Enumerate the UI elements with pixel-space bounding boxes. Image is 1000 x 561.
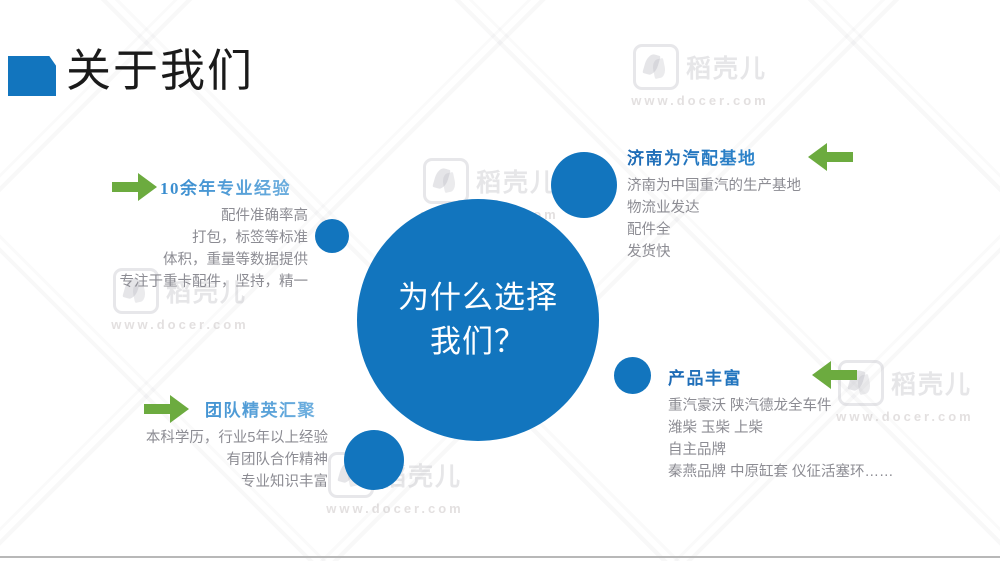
- bottom-divider: [0, 556, 1000, 558]
- feature-line: 体积，重量等数据提供: [0, 249, 308, 271]
- decorative-circle-bottom-left: [344, 430, 404, 490]
- center-circle-label: 为什么选择我们？: [398, 276, 558, 364]
- decorative-circle-small-left: [315, 219, 349, 253]
- feature-line: 专注于重卡配件，坚持，精一: [0, 271, 308, 293]
- feature-heading-team: 团队精英汇聚: [0, 396, 340, 421]
- feature-line: 专业知识丰富: [0, 471, 328, 493]
- title-accent-shape: [8, 56, 56, 96]
- feature-line: 打包，标签等标准: [0, 227, 308, 249]
- feature-heading-base: 济南为汽配基地: [627, 144, 927, 169]
- docer-leaf-logo-icon: [423, 158, 469, 204]
- feature-body-base: 济南为中国重汽的生产基地 物流业发达 配件全 发货快: [627, 175, 927, 263]
- decorative-circle-products: [614, 357, 651, 394]
- watermark-brand: 稻壳儿: [476, 163, 557, 199]
- watermark-url: www.docer.com: [75, 317, 285, 332]
- feature-line: 重汽豪沃 陕汽德龙全车件: [668, 395, 988, 417]
- feature-line: 有团队合作精神: [0, 449, 328, 471]
- watermark-tile: 稻壳儿 www.docer.com: [595, 44, 805, 108]
- feature-block-experience: 10余年专业经验 配件准确率高 打包，标签等标准 体积，重量等数据提供 专注于重…: [0, 174, 320, 293]
- feature-heading-products: 产品丰富: [668, 364, 988, 389]
- feature-line: 配件准确率高: [0, 205, 308, 227]
- watermark-url: www.docer.com: [595, 93, 805, 108]
- feature-body-team: 本科学历，行业5年以上经验 有团队合作精神 专业知识丰富: [0, 427, 340, 493]
- feature-line: 物流业发达: [627, 197, 927, 219]
- feature-block-products: 产品丰富 重汽豪沃 陕汽德龙全车件 潍柴 玉柴 上柴 自主品牌 秦燕品牌 中原缸…: [668, 364, 988, 483]
- center-circle: 为什么选择我们？: [357, 199, 599, 441]
- feature-line: 发货快: [627, 241, 927, 263]
- feature-line: 本科学历，行业5年以上经验: [0, 427, 328, 449]
- docer-leaf-logo-icon: [633, 44, 679, 90]
- feature-line: 配件全: [627, 219, 927, 241]
- feature-line: 秦燕品牌 中原缸套 仪征活塞环……: [668, 461, 988, 483]
- decorative-circle-top-right: [551, 152, 617, 218]
- feature-heading-experience: 10余年专业经验: [0, 174, 320, 199]
- feature-body-experience: 配件准确率高 打包，标签等标准 体积，重量等数据提供 专注于重卡配件，坚持，精一: [0, 205, 320, 293]
- watermark-brand: 稻壳儿: [686, 49, 767, 85]
- slide-canvas: 稻壳儿 www.docer.com 稻壳儿 www.docer.com 稻壳儿 …: [0, 0, 1000, 561]
- feature-line: 济南为中国重汽的生产基地: [627, 175, 927, 197]
- feature-line: 自主品牌: [668, 439, 988, 461]
- feature-body-products: 重汽豪沃 陕汽德龙全车件 潍柴 玉柴 上柴 自主品牌 秦燕品牌 中原缸套 仪征活…: [668, 395, 988, 483]
- watermark-url: www.docer.com: [290, 501, 500, 516]
- feature-block-base: 济南为汽配基地 济南为中国重汽的生产基地 物流业发达 配件全 发货快: [627, 144, 927, 263]
- page-title: 关于我们: [66, 40, 254, 102]
- feature-line: 潍柴 玉柴 上柴: [668, 417, 988, 439]
- feature-block-team: 团队精英汇聚 本科学历，行业5年以上经验 有团队合作精神 专业知识丰富: [0, 396, 340, 493]
